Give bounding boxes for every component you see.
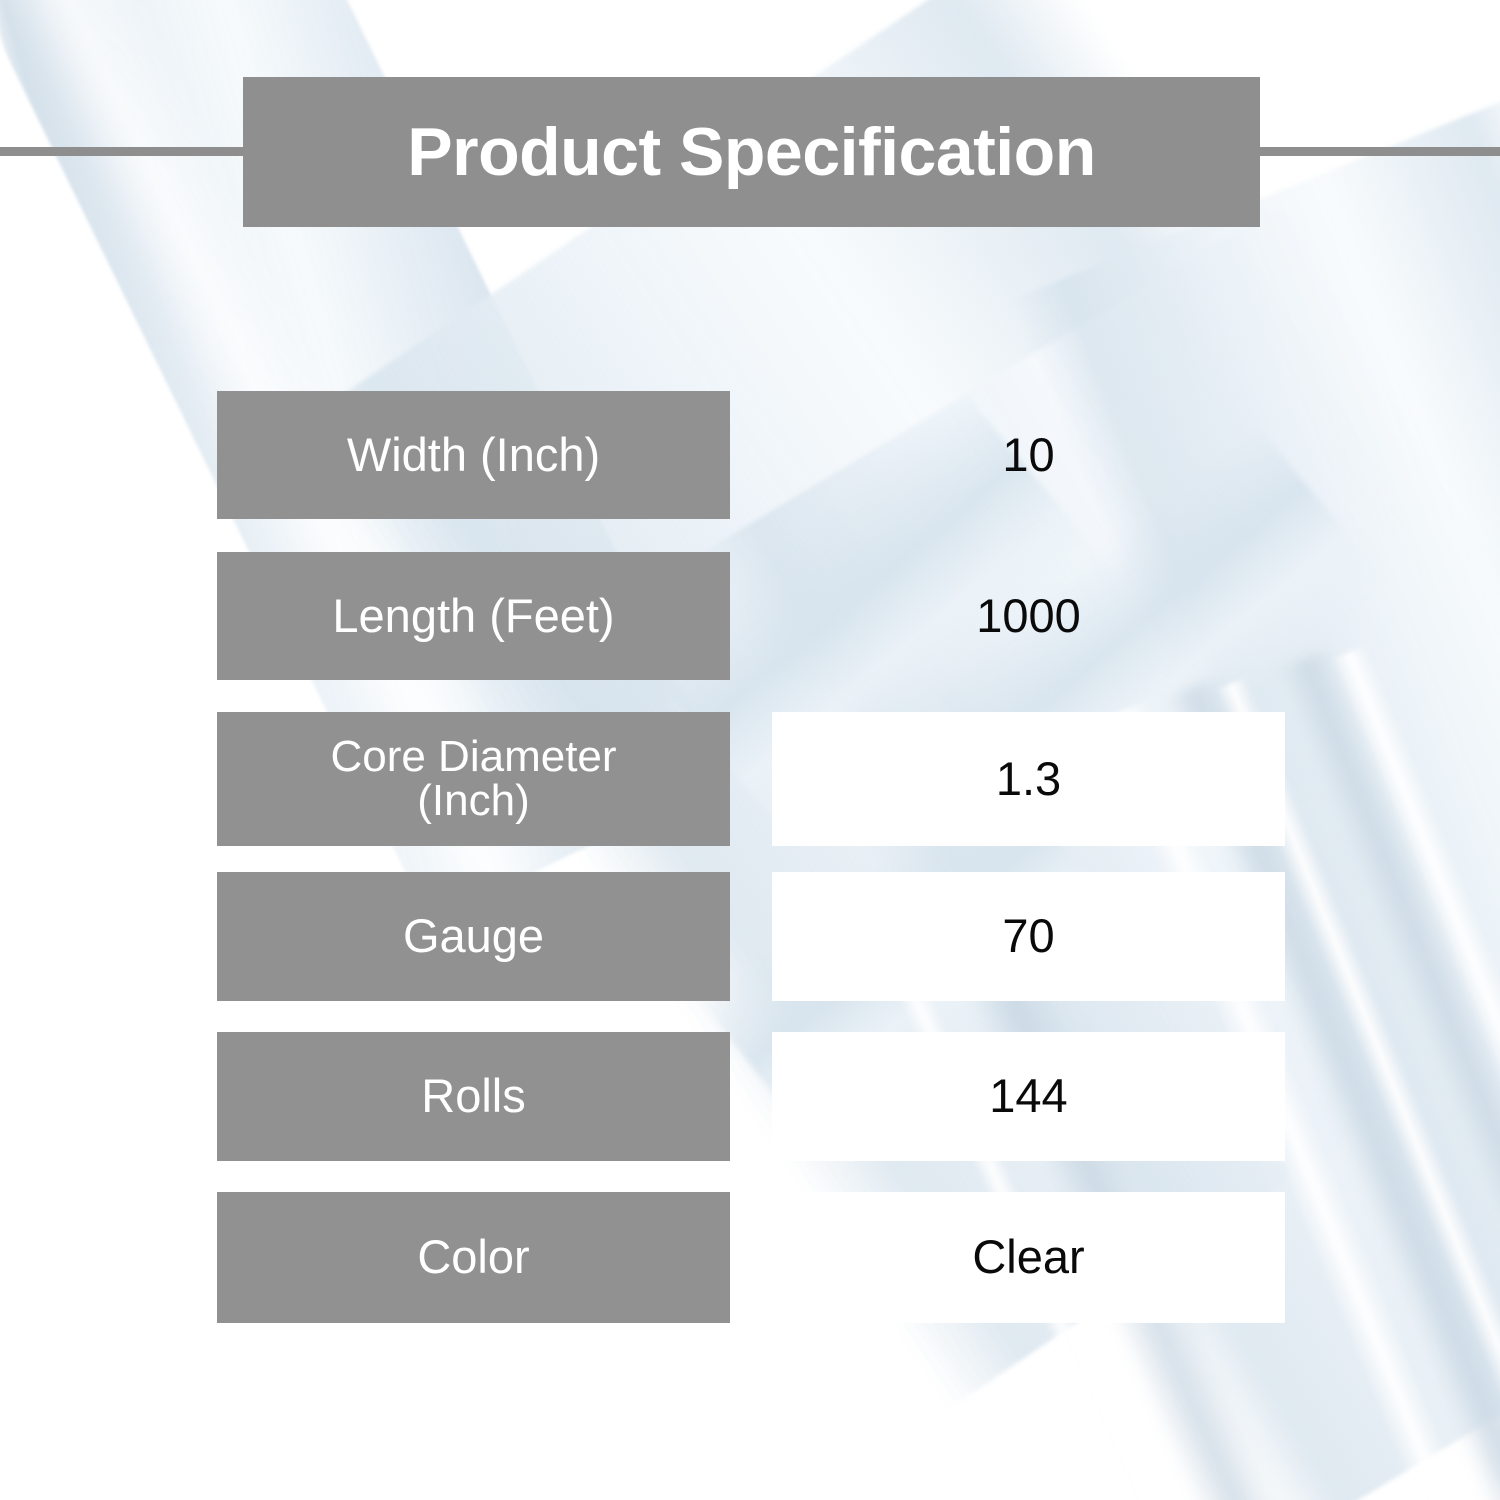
table-row: Rolls144 [0, 1032, 1500, 1161]
table-row: Core Diameter(Inch)1.3 [0, 712, 1500, 846]
spec-table: Width (Inch)10Length (Feet)1000Core Diam… [0, 0, 1500, 1500]
spec-label-cell: Rolls [217, 1032, 730, 1161]
product-specification-infographic: Product Specification Width (Inch)10Leng… [0, 0, 1500, 1500]
spec-value-cell: 10 [772, 391, 1285, 519]
table-row: Gauge70 [0, 872, 1500, 1001]
spec-label-cell: Core Diameter(Inch) [217, 712, 730, 846]
table-row: Length (Feet)1000 [0, 552, 1500, 680]
spec-label-cell: Length (Feet) [217, 552, 730, 680]
spec-label-cell: Gauge [217, 872, 730, 1001]
spec-label-cell: Color [217, 1192, 730, 1323]
table-row: Width (Inch)10 [0, 391, 1500, 519]
spec-label-cell: Width (Inch) [217, 391, 730, 519]
spec-value-cell: Clear [772, 1192, 1285, 1323]
spec-value-cell: 1000 [772, 552, 1285, 680]
spec-value-cell: 144 [772, 1032, 1285, 1161]
spec-value-cell: 70 [772, 872, 1285, 1001]
table-row: ColorClear [0, 1192, 1500, 1323]
spec-value-cell: 1.3 [772, 712, 1285, 846]
